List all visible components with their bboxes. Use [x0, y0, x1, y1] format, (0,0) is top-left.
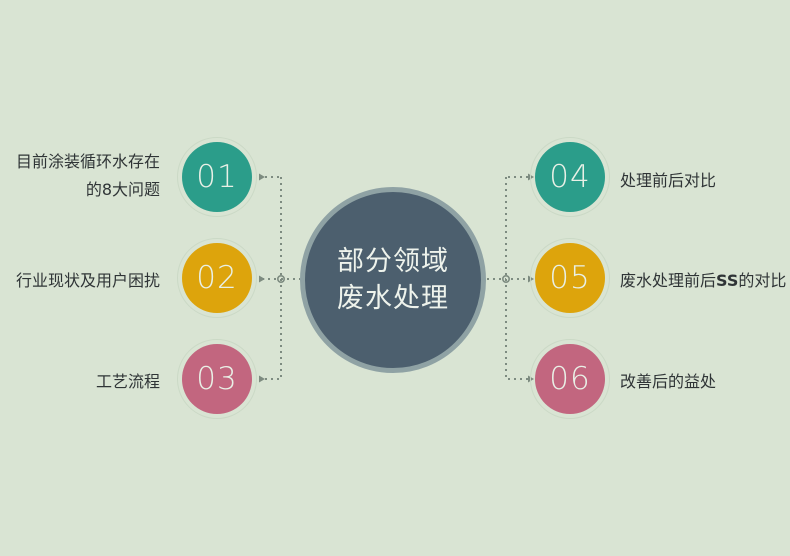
connector-group-right: [487, 177, 528, 379]
node-label-06: 改善后的益处: [620, 368, 790, 396]
node-label-04: 处理前后对比: [620, 167, 790, 195]
connector-group-left: [259, 177, 300, 379]
node-circle-01[interactable]: 01: [182, 142, 252, 212]
node-circle-06[interactable]: 06: [535, 344, 605, 414]
node-circle-03[interactable]: 03: [182, 344, 252, 414]
node-circle-04[interactable]: 04: [535, 142, 605, 212]
node-label-05: 废水处理前后SS的对比: [620, 267, 790, 295]
node-label-03: 工艺流程: [0, 368, 160, 396]
node-label-05-suffix: 的对比: [738, 271, 786, 290]
node-number-03: 03: [196, 361, 237, 397]
node-label-02: 行业现状及用户困扰: [0, 267, 160, 295]
node-number-01: 01: [196, 159, 237, 195]
node-number-05: 05: [549, 260, 590, 296]
node-circle-02[interactable]: 02: [182, 243, 252, 313]
node-label-05-prefix: 废水处理前后: [620, 271, 716, 290]
node-label-01: 目前涂装循环水存在 的8大问题: [0, 148, 160, 204]
center-hub-label: 部分领域废水处理: [333, 243, 453, 318]
node-number-06: 06: [549, 361, 590, 397]
node-label-05-emphasis: SS: [716, 271, 738, 290]
node-number-04: 04: [549, 159, 590, 195]
node-number-02: 02: [196, 260, 237, 296]
infographic-diagram: 部分领域废水处理 01 02 03 04 05 06 目前涂装循环水存在 的8大…: [0, 0, 790, 556]
node-circle-05[interactable]: 05: [535, 243, 605, 313]
center-hub[interactable]: 部分领域废水处理: [300, 187, 486, 373]
